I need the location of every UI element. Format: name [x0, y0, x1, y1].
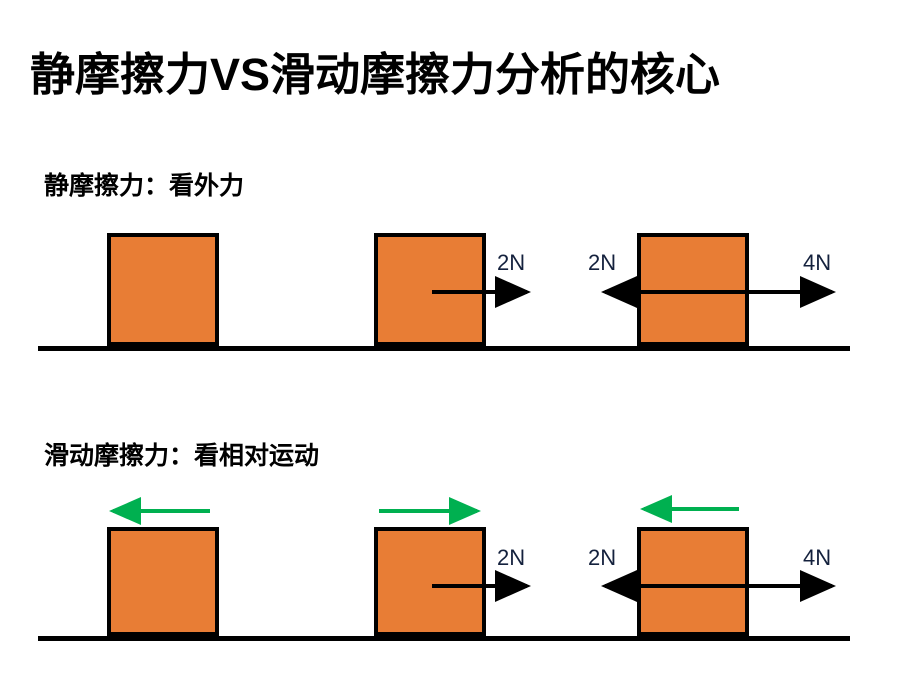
force-label-kinetic-case2-right: 2N [497, 545, 525, 571]
force-label-kinetic-case3-left: 2N [588, 545, 616, 571]
block-static-case2 [374, 233, 486, 346]
block-kinetic-case2 [374, 527, 486, 636]
block-static-case1 [107, 233, 219, 346]
force-label-kinetic-case3-right: 4N [803, 545, 831, 571]
force-label-static-case3-right: 4N [803, 250, 831, 276]
force-label-static-case3-left: 2N [588, 250, 616, 276]
force-label-static-case2-right: 2N [497, 250, 525, 276]
block-kinetic-case3 [637, 527, 749, 636]
ground-line-static-row [38, 346, 850, 351]
page-title: 静摩擦力VS滑动摩擦力分析的核心 [30, 46, 890, 104]
ground-line-kinetic-row [38, 636, 850, 641]
section-heading-static-friction: 静摩擦力：看外力 [44, 170, 244, 202]
section-heading-kinetic-friction: 滑动摩擦力：看相对运动 [44, 440, 319, 472]
slide-canvas: 静摩擦力VS滑动摩擦力分析的核心 静摩擦力：看外力 2N 2N 4N 滑动摩擦力… [0, 0, 919, 687]
block-kinetic-case1 [107, 527, 219, 636]
block-static-case3 [637, 233, 749, 346]
